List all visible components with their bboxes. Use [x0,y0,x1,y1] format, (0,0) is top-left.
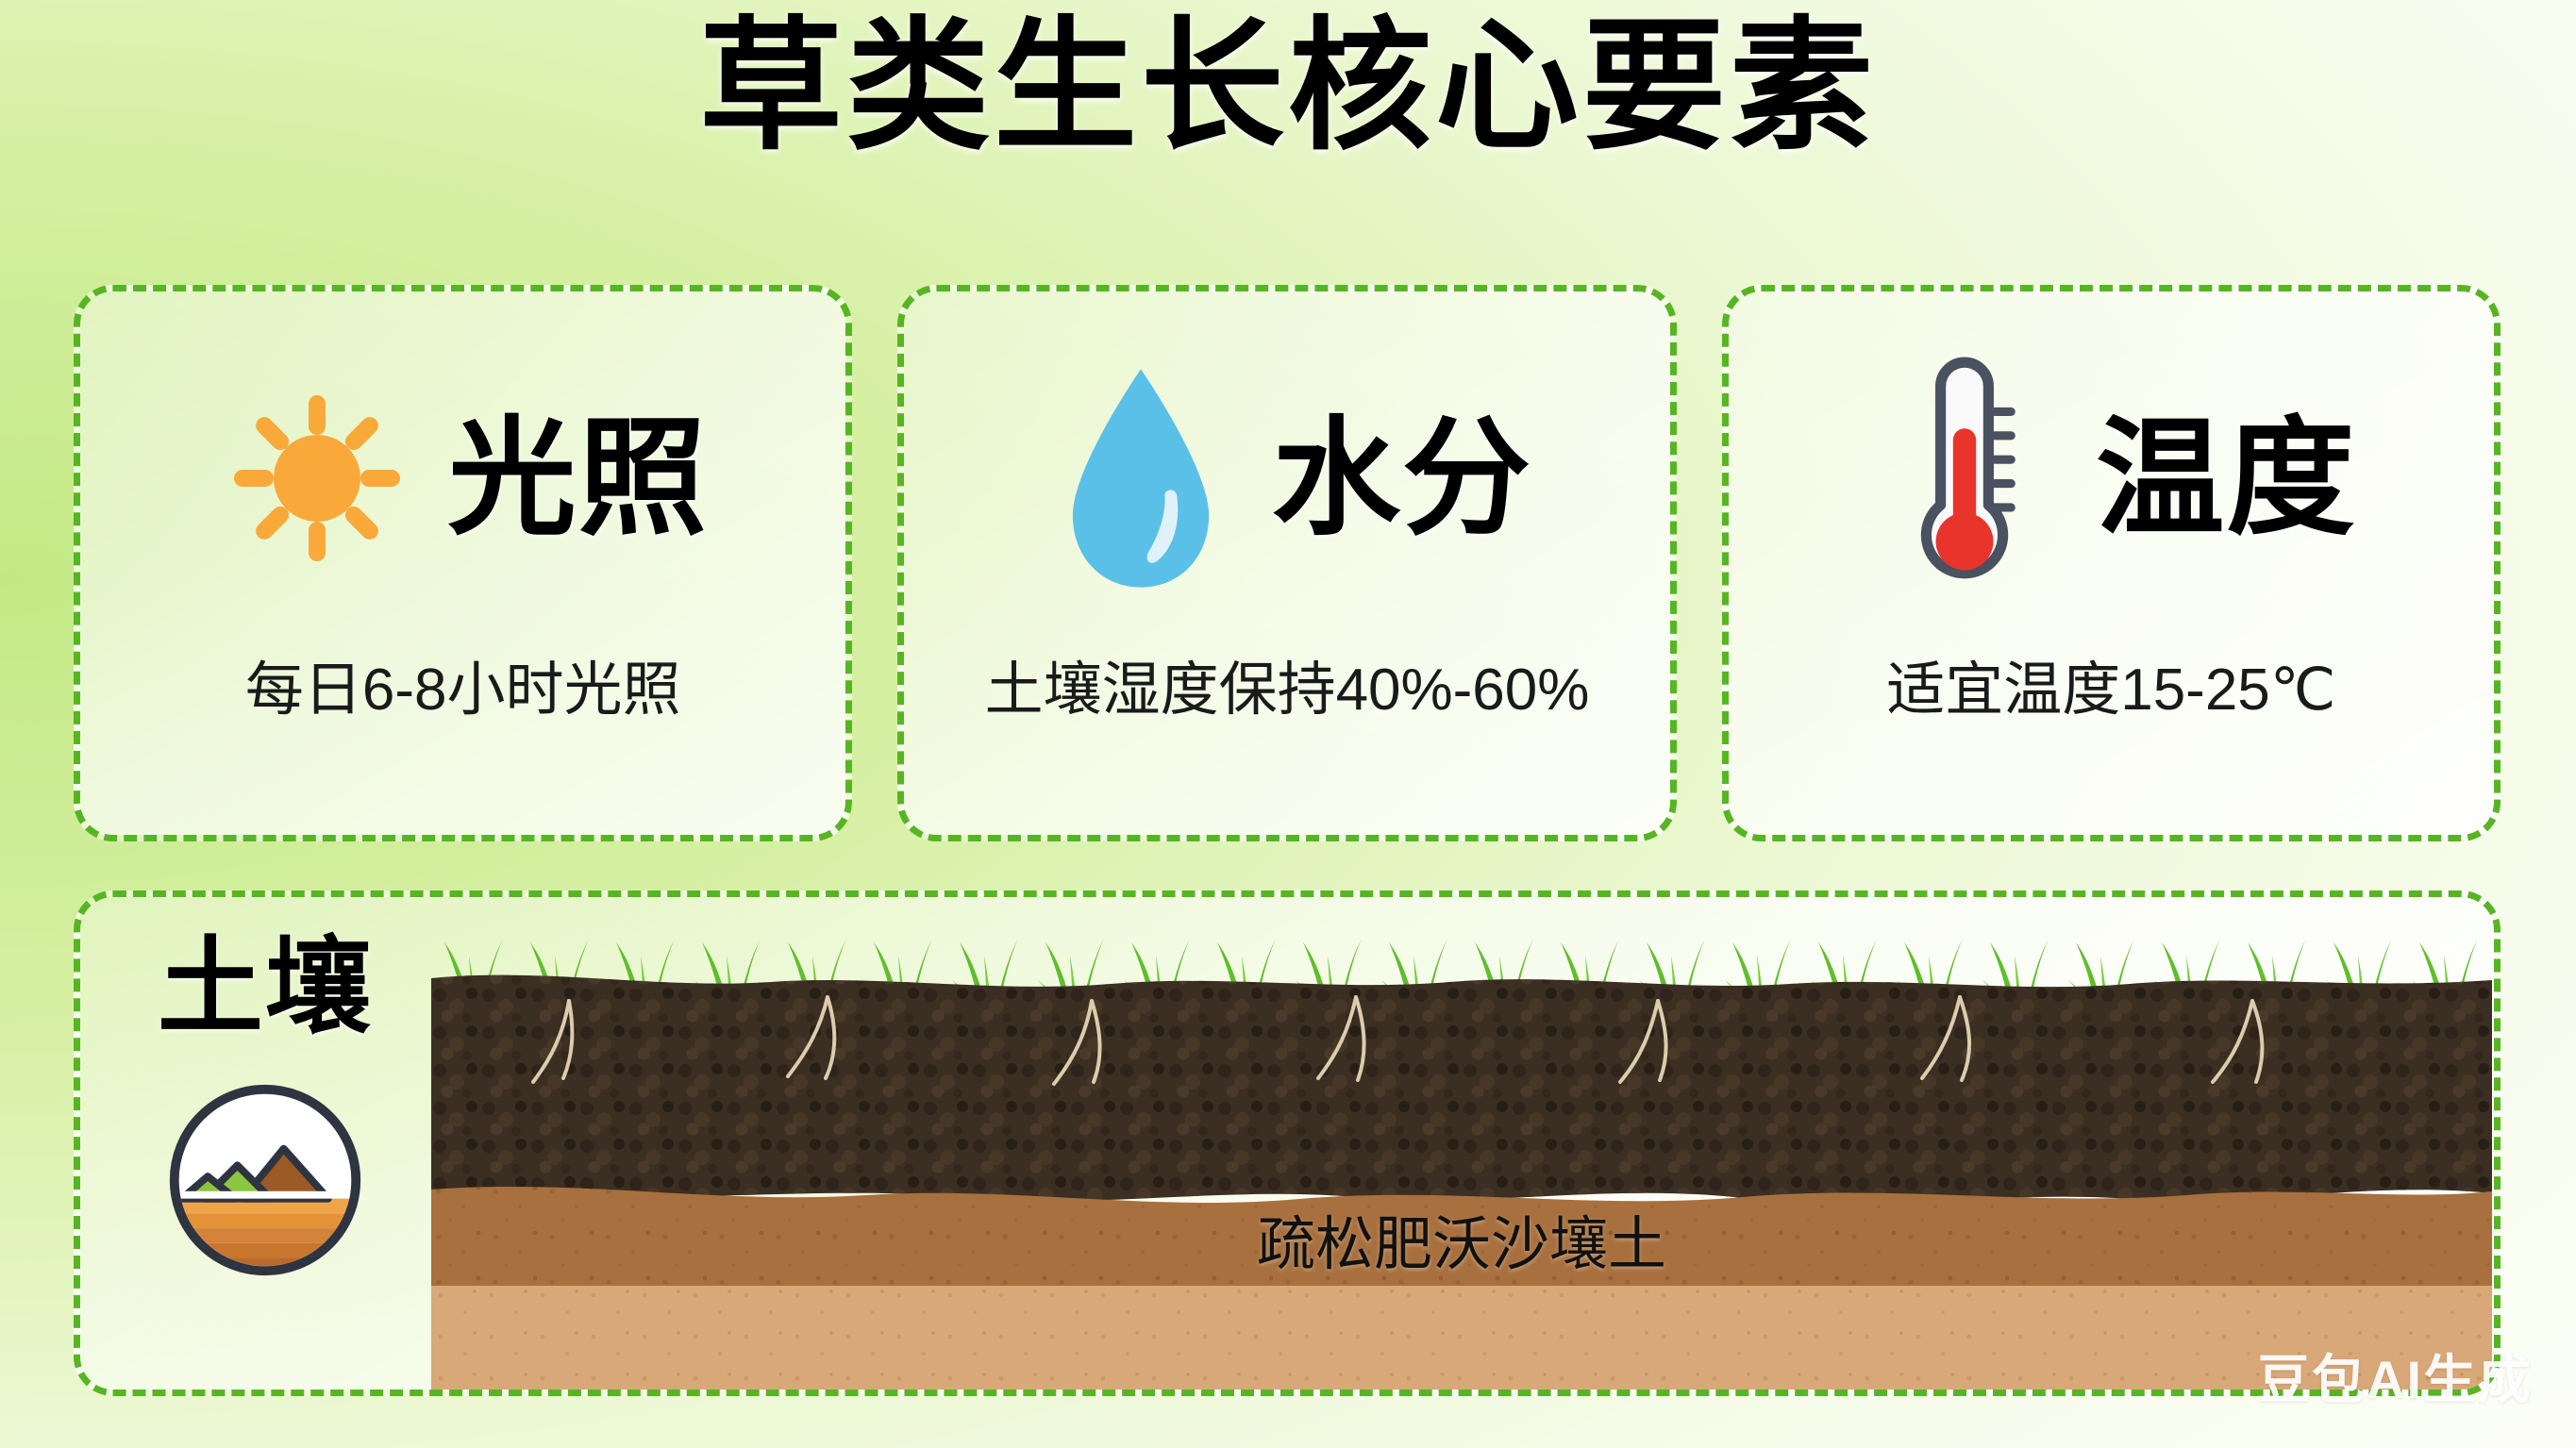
factor-caption-light: 每日6-8小时光照 [245,661,681,720]
factor-title-temperature: 温度 [2096,414,2356,542]
factor-caption-temperature: 适宜温度15-25℃ [1886,661,2335,720]
card-header-temperature: 温度 [1729,291,2494,652]
card-header-water: 水分 [904,291,1669,652]
factor-card-light[interactable]: 光照 每日6-8小时光照 [74,285,852,841]
soil-cross-section-illustration [431,910,2492,1396]
soil-label-column: 土壤 [105,897,426,1390]
sun-icon [218,360,416,596]
factor-card-row: 光照 每日6-8小时光照 水分 土壤湿度保持40%-60% [74,285,2501,841]
page-title: 草类生长核心要素 [0,15,2576,158]
soil-layers-badge-icon [163,1078,367,1282]
water-drop-icon [1042,360,1240,596]
thermometer-icon [1865,360,2064,596]
card-header-light: 光照 [80,291,845,652]
factor-card-water[interactable]: 水分 土壤湿度保持40%-60% [897,285,1676,841]
watermark: 豆包AI生成 [2257,1338,2533,1414]
factor-title-light: 光照 [448,414,709,542]
factor-title-water: 水分 [1272,414,1532,542]
factor-card-temperature[interactable]: 温度 适宜温度15-25℃ [1722,285,2501,841]
infographic-poster: 草类生长核心要素 [0,0,2576,1448]
factor-caption-water: 土壤湿度保持40%-60% [985,661,1590,720]
soil-caption: 疏松肥沃沙壤土 [431,1216,2492,1274]
soil-panel[interactable]: 土壤 [74,890,2501,1396]
soil-title: 土壤 [158,935,373,1040]
